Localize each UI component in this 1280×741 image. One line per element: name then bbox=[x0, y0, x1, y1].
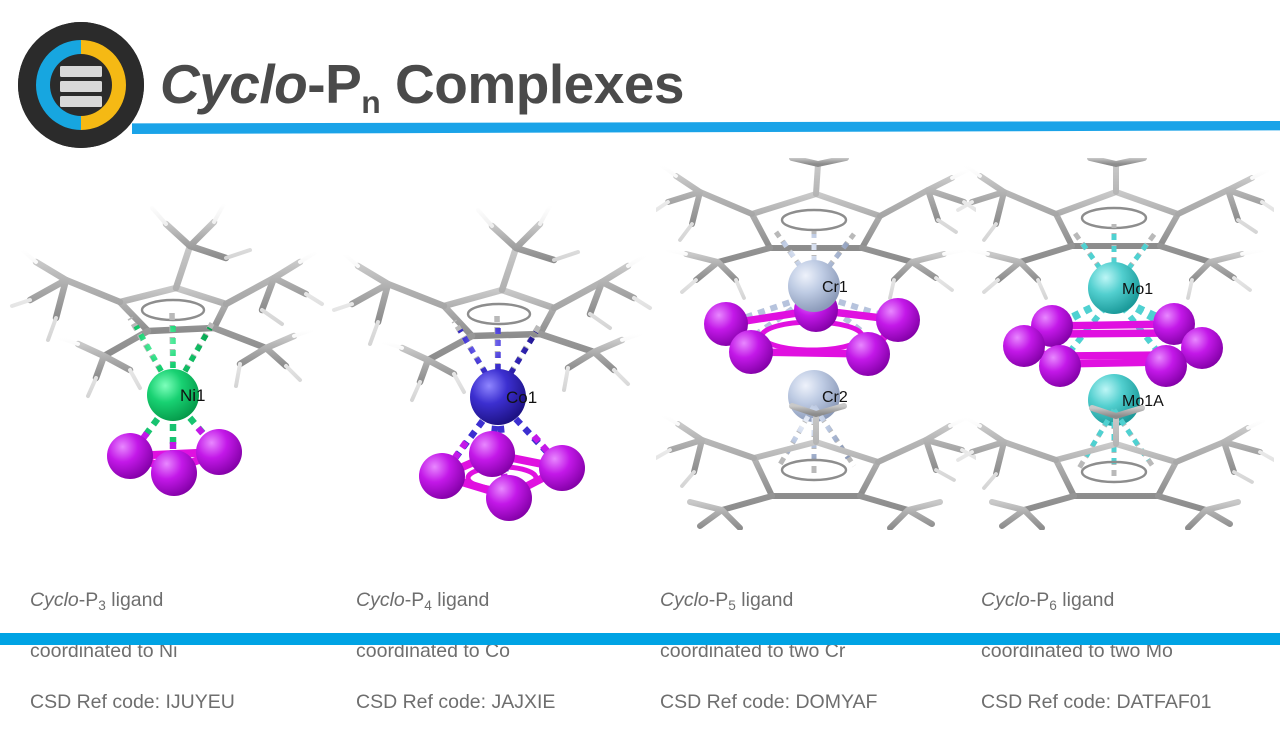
p-atom bbox=[876, 298, 920, 342]
p-atom bbox=[1039, 345, 1081, 387]
caption-line-1: Cyclo-P4 ligand bbox=[356, 563, 676, 614]
header-accent-rule bbox=[132, 121, 1280, 134]
caption-roman: -P bbox=[79, 589, 99, 611]
aromatic-ring-marker bbox=[782, 210, 846, 230]
caption-tail: ligand bbox=[106, 589, 163, 611]
structure-gallery: Ni1 bbox=[0, 158, 1280, 530]
caption-roman: -P bbox=[1030, 589, 1050, 611]
caption-italic: Cyclo bbox=[356, 589, 405, 611]
title-tail: Complexes bbox=[380, 53, 684, 115]
cp-star-ligand-top bbox=[12, 204, 322, 396]
caption-line-1: Cyclo-P5 ligand bbox=[660, 563, 990, 614]
caption-roman: -P bbox=[709, 589, 729, 611]
p-atom bbox=[151, 450, 197, 496]
caption-subscript: 3 bbox=[98, 598, 106, 613]
caption-italic: Cyclo bbox=[660, 589, 709, 611]
slide-root: Cyclo-Pn Complexes bbox=[0, 0, 1280, 720]
p-atom bbox=[486, 475, 532, 521]
p-atom bbox=[539, 445, 585, 491]
caption-subscript: 6 bbox=[1049, 598, 1057, 613]
metal-atom-label: Ni1 bbox=[180, 386, 206, 405]
p-atom bbox=[107, 433, 153, 479]
caption-refcode: CSD Ref code: DATFAF01 bbox=[981, 690, 1280, 716]
panel-p6-mo: Mo1 Mo1A bbox=[956, 158, 1274, 530]
page-title: Cyclo-Pn Complexes bbox=[160, 57, 684, 112]
caption-italic: Cyclo bbox=[981, 589, 1030, 611]
caption-line-1: Cyclo-P3 ligand bbox=[30, 563, 350, 614]
caption-roman: -P bbox=[405, 589, 425, 611]
caption-tail: ligand bbox=[736, 589, 793, 611]
p-atom bbox=[729, 330, 773, 374]
p-atom bbox=[1003, 325, 1045, 367]
p-atom bbox=[1145, 345, 1187, 387]
p-atom bbox=[419, 453, 465, 499]
caption-refcode: CSD Ref code: DOMYAF bbox=[660, 690, 990, 716]
caption-italic: Cyclo bbox=[30, 589, 79, 611]
caption-subscript: 5 bbox=[728, 598, 736, 613]
metal-atom-label: Cr1 bbox=[822, 279, 848, 296]
ccdc-logo bbox=[18, 22, 144, 148]
cp-star-ligand-bottom bbox=[958, 408, 1274, 528]
title-roman: -P bbox=[307, 53, 361, 115]
caption-tail: ligand bbox=[432, 589, 489, 611]
p-atom bbox=[846, 332, 890, 376]
title-subscript: n bbox=[361, 84, 380, 120]
caption-line-1: Cyclo-P6 ligand bbox=[981, 563, 1280, 614]
footer-accent-rule bbox=[0, 633, 1280, 645]
metal-atom-label: Mo1 bbox=[1122, 281, 1153, 298]
caption-tail: ligand bbox=[1057, 589, 1114, 611]
caption-refcode: CSD Ref code: IJUYEU bbox=[30, 690, 350, 716]
caption-refcode: CSD Ref code: JAJXIE bbox=[356, 690, 676, 716]
metal-atom-label: Co1 bbox=[506, 388, 537, 407]
p-atom bbox=[469, 431, 515, 477]
panel-p5-cr: Cr1 Cr2 bbox=[656, 158, 976, 530]
title-italic: Cyclo bbox=[160, 53, 307, 115]
caption-subscript: 4 bbox=[424, 598, 432, 613]
panel-p4-co: Co1 bbox=[326, 158, 662, 530]
p-atom bbox=[1181, 327, 1223, 369]
panel-p3-ni: Ni1 bbox=[0, 158, 330, 530]
p-atom bbox=[196, 429, 242, 475]
